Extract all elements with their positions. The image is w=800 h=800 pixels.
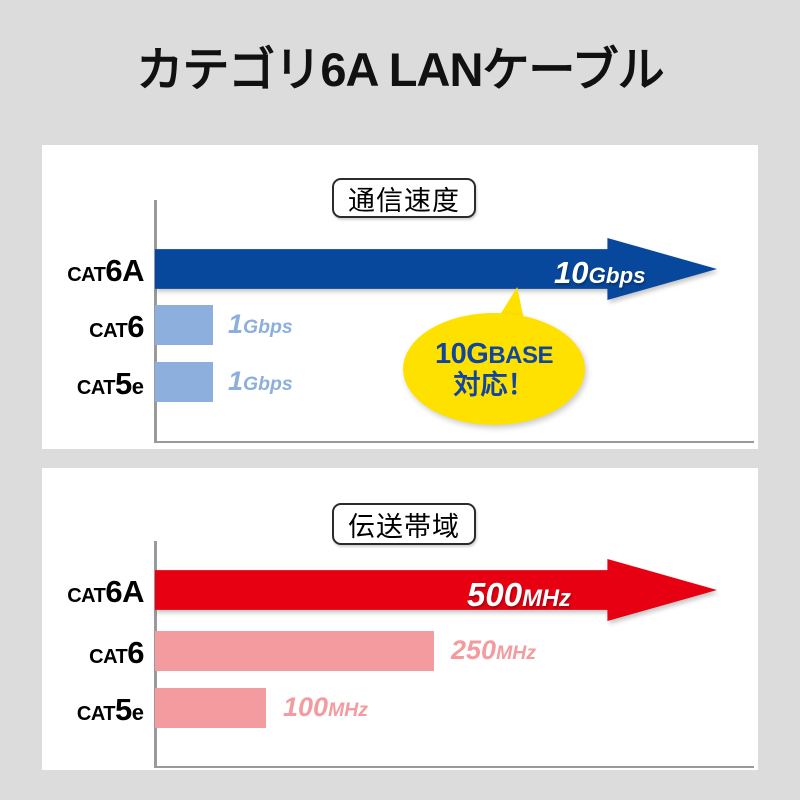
bandwidth-bar-cat6 xyxy=(155,631,434,671)
bandwidth-chart: 500MHz 250MHz 100MHz CAT6A CAT6 CAT5e 伝送… xyxy=(42,468,758,770)
bandwidth-value-cat6: 250MHz xyxy=(451,637,536,664)
bandwidth-section-tag: 伝送帯域 xyxy=(332,503,476,545)
bandwidth-chart-x-axis xyxy=(154,766,754,768)
bandwidth-chart-card: 500MHz 250MHz 100MHz CAT6A CAT6 CAT5e 伝送… xyxy=(42,468,758,770)
speed-bar-cat5e xyxy=(155,362,213,402)
speed-chart: 10Gbps 1Gbps 1Gbps CAT6A CAT6 CAT5e 通信速度 xyxy=(42,145,758,449)
speed-label-cat6: CAT6 xyxy=(62,311,144,342)
bandwidth-value-cat5e: 100MHz xyxy=(283,694,368,721)
speed-label-cat5e: CAT5e xyxy=(62,368,144,399)
bandwidth-label-cat6: CAT6 xyxy=(62,637,144,668)
speed-value-cat5e: 1Gbps xyxy=(228,368,293,395)
bubble-text: 10GBASE 対応！ xyxy=(403,313,585,425)
speed-callout-bubble: 10GBASE 対応！ xyxy=(403,287,585,427)
speed-value-cat6: 1Gbps xyxy=(228,311,293,338)
speed-bar-cat6 xyxy=(155,305,213,345)
bandwidth-bar-cat6a xyxy=(155,559,717,621)
bandwidth-value-cat6a: 500MHz xyxy=(467,578,571,611)
speed-chart-card: 10Gbps 1Gbps 1Gbps CAT6A CAT6 CAT5e 通信速度 xyxy=(42,145,758,449)
bandwidth-label-cat5e: CAT5e xyxy=(62,694,144,725)
page-title: カテゴリ6A LANケーブル xyxy=(0,44,800,96)
speed-label-cat6a: CAT6A xyxy=(62,255,144,286)
speed-value-cat6a: 10Gbps xyxy=(554,257,646,288)
speed-chart-x-axis xyxy=(154,441,754,443)
bandwidth-label-cat6a: CAT6A xyxy=(62,576,144,607)
speed-section-tag: 通信速度 xyxy=(332,178,476,218)
bandwidth-bar-cat5e xyxy=(155,688,266,728)
poster-root: カテゴリ6A LANケーブル 10Gbps 1Gbps 1Gbps CAT6A … xyxy=(0,0,800,800)
